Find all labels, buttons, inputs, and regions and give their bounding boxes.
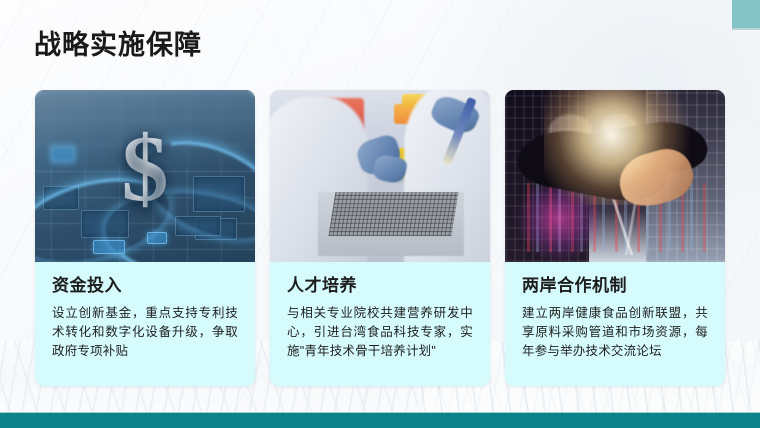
card-talent[interactable]: 人才培养 与相关专业院校共建营养研发中心，引进台湾食品科技专家，实施"青年技术骨… bbox=[270, 90, 490, 386]
card-cross-strait-body: 两岸合作机制 建立两岸健康食品创新联盟，共享原料采购管道和市场资源，每年参与举办… bbox=[505, 262, 725, 386]
card-talent-body: 人才培养 与相关专业院校共建营养研发中心，引进台湾食品科技专家，实施"青年技术骨… bbox=[270, 262, 490, 386]
card-funding-image: $ bbox=[35, 90, 255, 262]
warm-lens-flare bbox=[544, 90, 694, 205]
slide-canvas: 战略实施保障 $ bbox=[0, 0, 760, 428]
card-talent-description: 与相关专业院校共建营养研发中心，引进台湾食品科技专家，实施"青年技术骨干培养计划… bbox=[287, 304, 473, 361]
card-funding-description: 设立创新基金，重点支持专利技术转化和数字化设备升级，争取政府专项补贴 bbox=[52, 304, 238, 361]
card-funding-heading: 资金投入 bbox=[52, 275, 238, 297]
corner-accent-shadow bbox=[732, 28, 760, 30]
card-cross-strait[interactable]: 两岸合作机制 建立两岸健康食品创新联盟，共享原料采购管道和市场资源，每年参与举办… bbox=[505, 90, 725, 386]
corner-accent-block bbox=[732, 0, 760, 28]
card-talent-image bbox=[270, 90, 490, 262]
card-cross-strait-image bbox=[505, 90, 725, 262]
bottom-accent-bar bbox=[0, 413, 760, 428]
laboratory-researchers-photo bbox=[270, 90, 490, 262]
page-title: 战略实施保障 bbox=[34, 29, 202, 61]
card-funding-body: 资金投入 设立创新基金，重点支持专利技术转化和数字化设备升级，争取政府专项补贴 bbox=[35, 262, 255, 386]
card-list: $ 资金投入 设立创新基金，重点支持专利技术转化和数字化设备升级，争取政府专项补… bbox=[35, 90, 725, 386]
card-talent-heading: 人才培养 bbox=[287, 275, 473, 297]
card-cross-strait-heading: 两岸合作机制 bbox=[522, 275, 708, 297]
lab-bench-grille bbox=[328, 192, 458, 236]
dollar-circuit-board-photo: $ bbox=[35, 90, 255, 262]
card-funding[interactable]: $ 资金投入 设立创新基金，重点支持专利技术转化和数字化设备升级，争取政府专项补… bbox=[35, 90, 255, 386]
handshake-cityscape-photo bbox=[505, 90, 725, 262]
dollar-sign-icon: $ bbox=[122, 122, 169, 216]
card-cross-strait-description: 建立两岸健康食品创新联盟，共享原料采购管道和市场资源，每年参与举办技术交流论坛 bbox=[522, 304, 708, 361]
